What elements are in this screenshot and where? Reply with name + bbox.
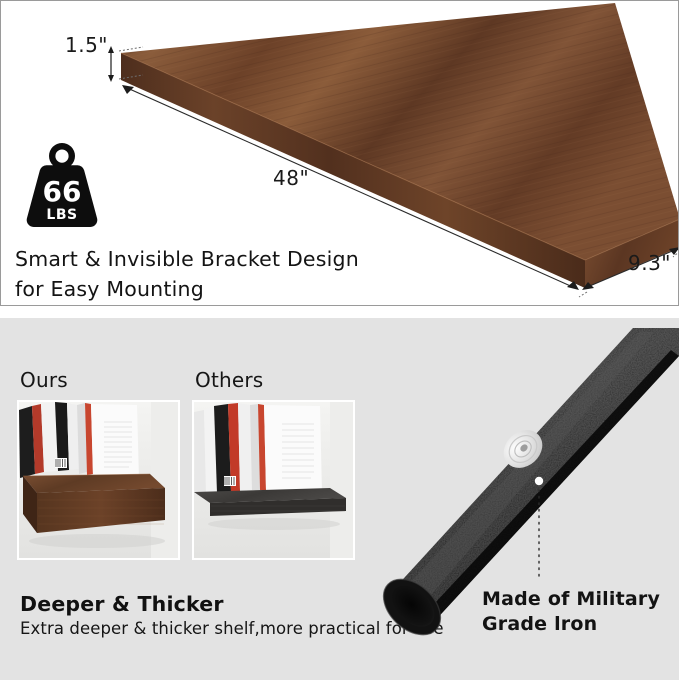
dimension-label-thickness: 1.5" [65,33,108,57]
comparison-label-ours: Ours [20,368,68,392]
bottom-panel: Ours Others [0,318,679,680]
bottom-heading: Deeper & Thicker [20,592,224,616]
comparison-label-others: Others [195,368,263,392]
rod-callout-leader [535,477,543,576]
dimension-thickness [108,46,143,82]
top-headline: Smart & Invisible Bracket Design for Eas… [15,244,359,304]
shelf-top-face [121,3,679,260]
rod-shaft [395,328,679,626]
ours-photo-svg [19,402,178,558]
dimension-label-depth: 9.3" [628,251,671,275]
ours-books [19,402,139,480]
others-photo-svg [194,402,353,558]
infographic-root: 1.5" 48" 9.3" 66 LBS Smart & Invisible B… [0,0,679,680]
weight-unit: LBS [46,207,77,223]
top-panel: 1.5" 48" 9.3" 66 LBS Smart & Invisible B… [0,0,679,306]
rod-cap-fitting [496,422,550,475]
rod-caption: Made of Military Grade lron [482,587,660,637]
comparison-photo-others [192,400,355,560]
comparison-photo-ours [17,400,180,560]
top-headline-line1: Smart & Invisible Bracket Design [15,244,359,274]
bottom-subtext: Extra deeper & thicker shelf,more practi… [20,619,444,638]
top-headline-line2: for Easy Mounting [15,274,359,304]
dimension-label-length: 48" [273,166,309,190]
others-books [194,403,322,496]
weight-number: 66 [43,175,82,208]
weight-icon: 66 LBS [25,139,99,229]
weight-capacity-badge: 66 LBS [25,139,99,229]
